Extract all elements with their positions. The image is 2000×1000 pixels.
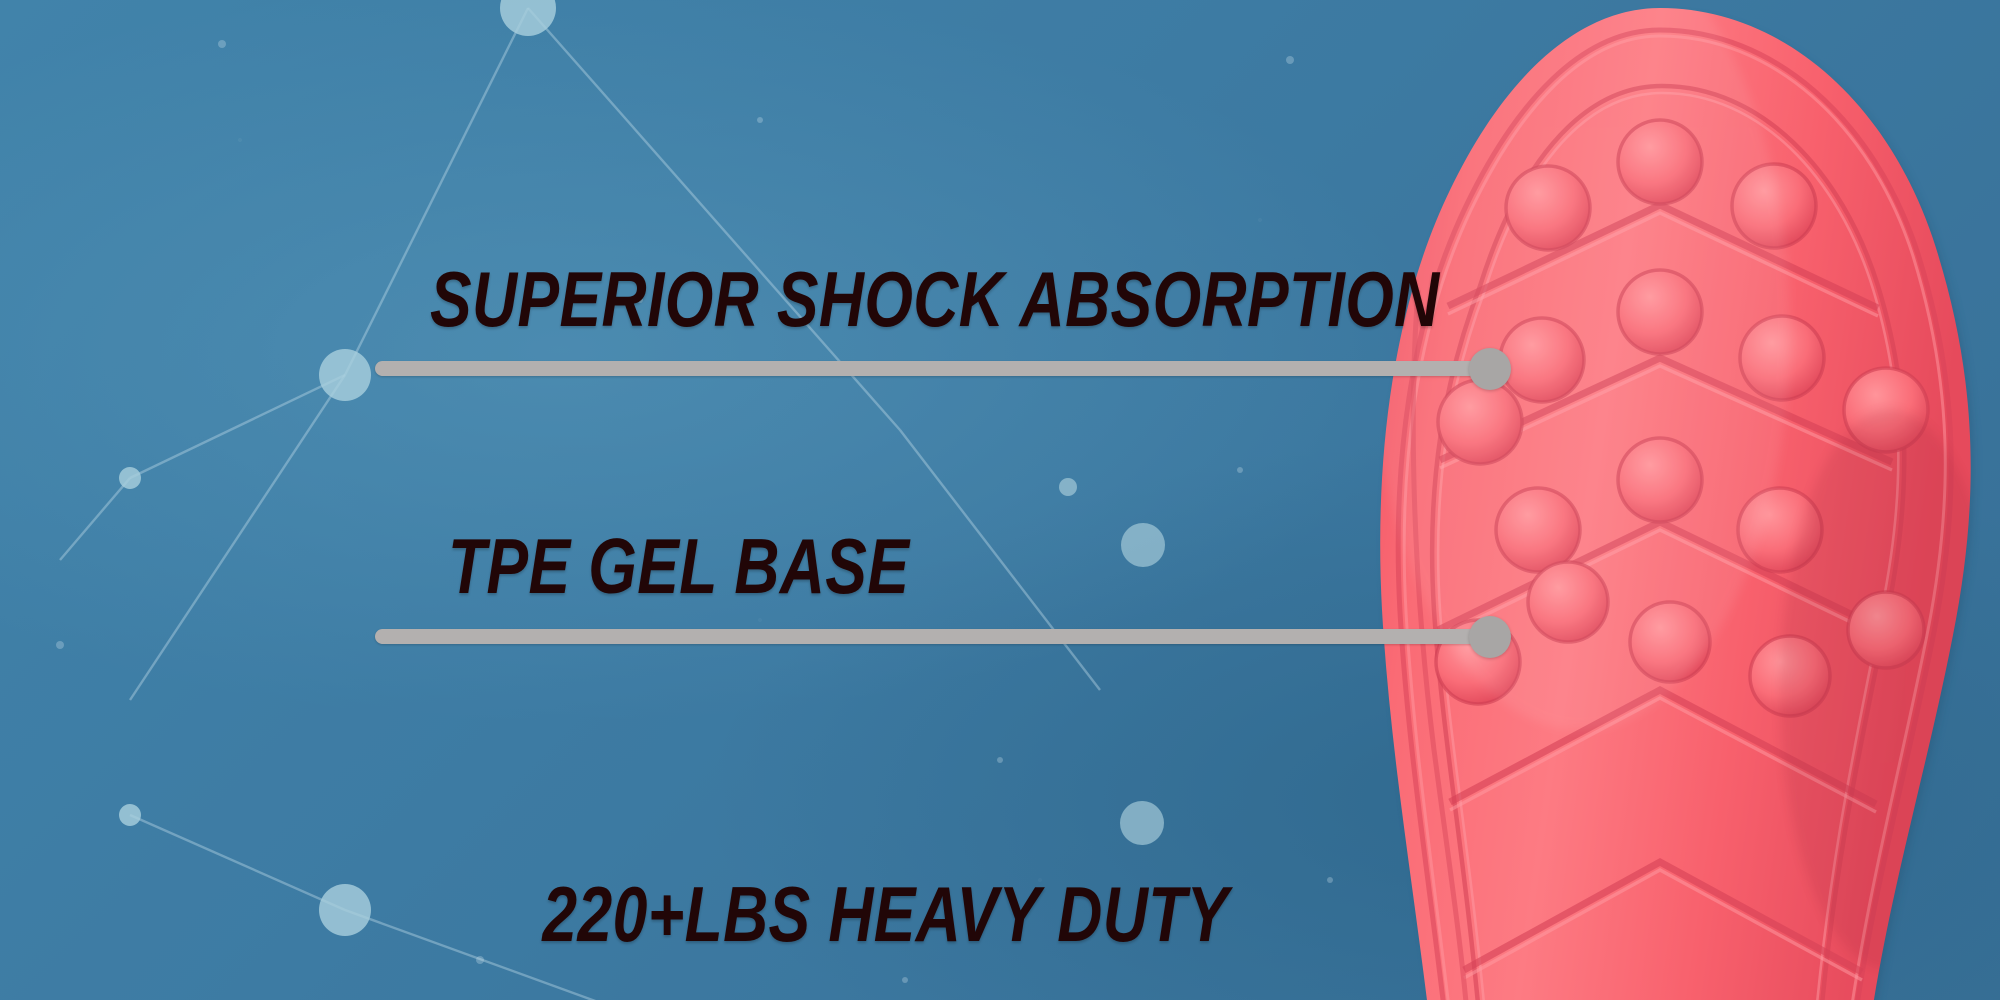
leader-dot-tpe-gel-base <box>1469 616 1511 658</box>
label-arch-support-line1: 220+LBS HEAVY DUTY <box>542 870 1228 958</box>
label-shock-absorption: SUPERIOR SHOCK ABSORPTION <box>430 258 1440 341</box>
insole-illustration <box>1330 0 2000 1000</box>
leader-line-tpe-gel-base <box>375 629 1493 644</box>
leader-line-shock-absorption <box>375 361 1493 376</box>
label-tpe-gel-base: TPE GEL BASE <box>448 525 909 608</box>
label-arch-support: 220+LBS HEAVY DUTY ARCH SUPPORT <box>436 790 1229 1000</box>
gel-insole-image <box>1330 0 2000 1000</box>
screenshot-canvas: SUPERIOR SHOCK ABSORPTION TPE GEL BASE 2… <box>0 0 2000 1000</box>
leader-dot-shock-absorption <box>1469 348 1511 390</box>
